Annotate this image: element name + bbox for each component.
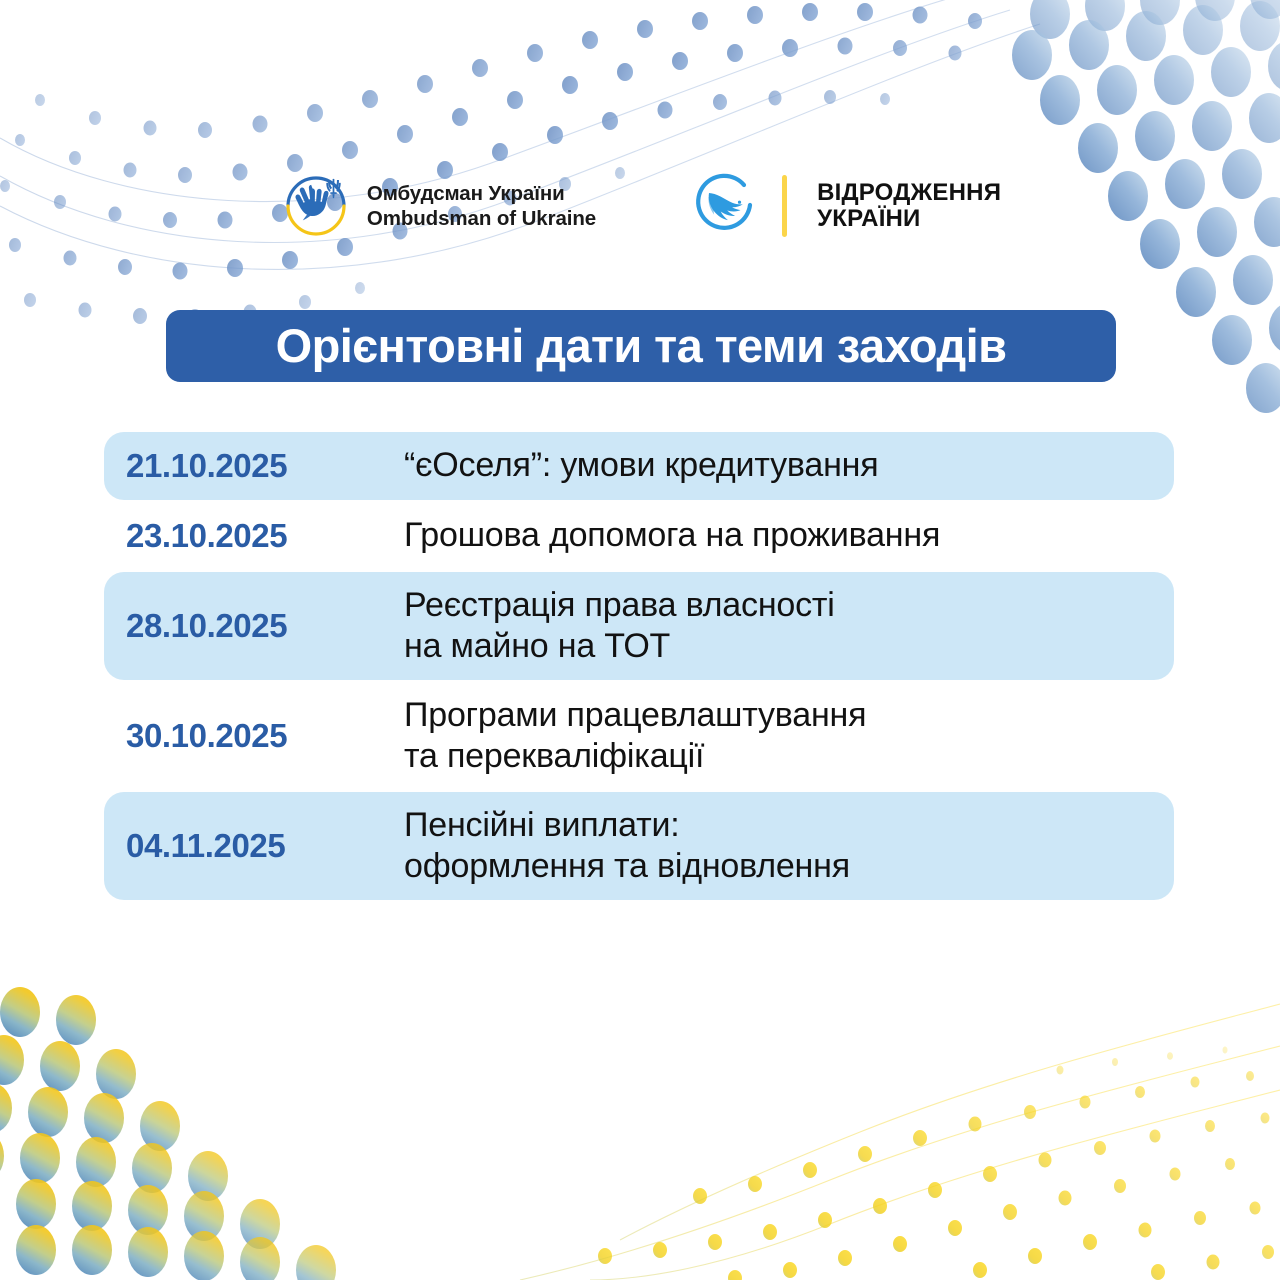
schedule-row-topic-line-1: Програми працевлаштування: [404, 696, 866, 734]
schedule-row: 21.10.2025 “єОселя”: умови кредитування: [104, 432, 1174, 500]
schedule-list: 21.10.2025 “єОселя”: умови кредитування …: [104, 432, 1174, 900]
poster-canvas: Омбудсман України Ombudsman of Ukraine В…: [0, 0, 1280, 1280]
ombudsman-name-en: Ombudsman of Ukraine: [367, 206, 596, 231]
schedule-row-topic: Реєстрація права власності на майно на Т…: [404, 585, 1152, 668]
vidrodzhennia-line1: ВІДРОДЖЕННЯ: [817, 180, 1001, 206]
schedule-row: 30.10.2025 Програми працевлаштування та …: [104, 682, 1174, 790]
deco-bottom-left-grid: [0, 979, 336, 1280]
schedule-row-date: 23.10.2025: [126, 517, 404, 555]
schedule-row-topic-line-2: на майно на ТОТ: [404, 626, 1152, 667]
schedule-row: 28.10.2025 Реєстрація права власності на…: [104, 572, 1174, 680]
page-title: Орієнтовні дати та теми заходів: [276, 322, 1007, 369]
schedule-row-date: 30.10.2025: [126, 717, 404, 755]
vidrodzhennia-logo-text: ВІДРОДЖЕННЯ УКРАЇНИ: [817, 180, 1001, 233]
header-logos: Омбудсман України Ombudsman of Ukraine В…: [0, 160, 1280, 252]
vidrodzhennia-line2: УКРАЇНИ: [817, 206, 1001, 232]
phoenix-bird-circle-icon: [692, 171, 762, 241]
logo-divider: [782, 175, 787, 237]
schedule-row-topic: Програми працевлаштування та перекваліфі…: [404, 695, 1152, 778]
schedule-row-topic-line-1: Грошова допомога на проживання: [404, 516, 940, 554]
schedule-row-topic-line-1: “єОселя”: умови кредитування: [404, 446, 878, 484]
ombudsman-name-uk: Омбудсман України: [367, 181, 596, 206]
schedule-row-topic: Грошова допомога на проживання: [404, 515, 1152, 556]
schedule-row-date: 04.11.2025: [126, 827, 404, 865]
page-title-banner: Орієнтовні дати та теми заходів: [166, 310, 1116, 382]
schedule-row-topic-line-1: Пенсійні виплати:: [404, 806, 680, 844]
ombudsman-logo-text: Омбудсман України Ombudsman of Ukraine: [367, 181, 596, 231]
vidrodzhennia-logo: ВІДРОДЖЕННЯ УКРАЇНИ: [692, 171, 1001, 241]
schedule-row: 04.11.2025 Пенсійні виплати: оформлення …: [104, 792, 1174, 900]
schedule-row-date: 21.10.2025: [126, 447, 404, 485]
schedule-row-topic-line-1: Реєстрація права власності: [404, 586, 835, 624]
ombudsman-dove-trident-circle-icon: [279, 169, 353, 243]
schedule-row: 23.10.2025 Грошова допомога на проживанн…: [104, 502, 1174, 570]
schedule-row-topic: “єОселя”: умови кредитування: [404, 445, 1152, 486]
schedule-row-topic: Пенсійні виплати: оформлення та відновле…: [404, 805, 1152, 888]
schedule-row-topic-line-2: та перекваліфікації: [404, 736, 1152, 777]
schedule-row-topic-line-2: оформлення та відновлення: [404, 846, 1152, 887]
schedule-row-date: 28.10.2025: [126, 607, 404, 645]
deco-bottom-right-wave: [520, 1004, 1280, 1280]
ombudsman-logo: Омбудсман України Ombudsman of Ukraine: [279, 169, 596, 243]
